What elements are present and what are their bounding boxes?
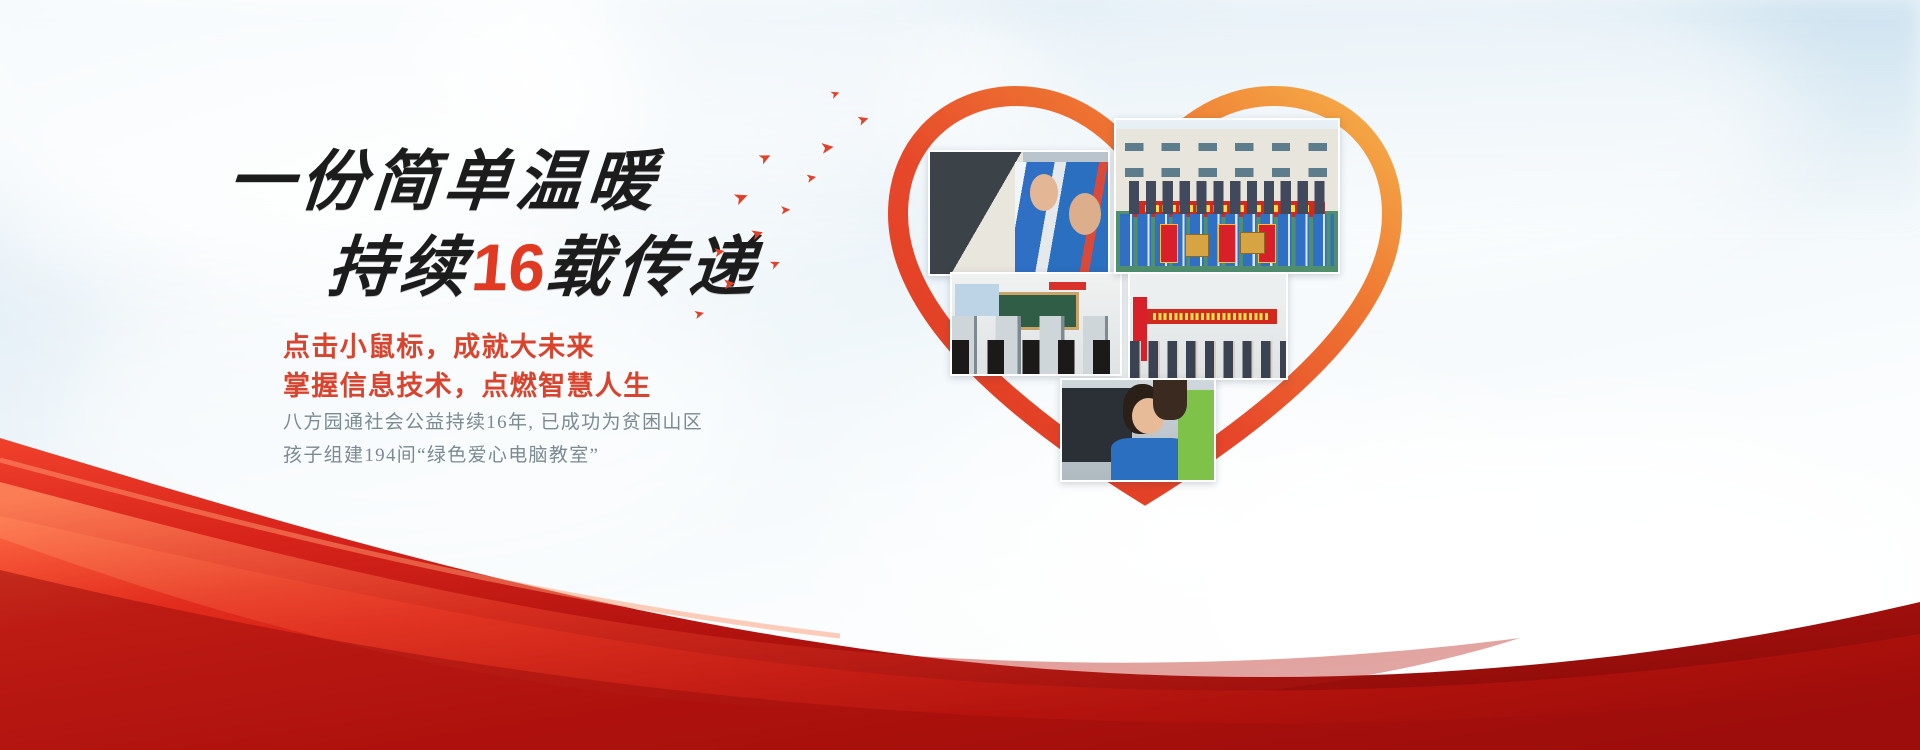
headline-line-2-prefix: 持续 bbox=[325, 232, 475, 305]
photo-content bbox=[1116, 120, 1338, 272]
subtitle-line-2: 掌握信息技术，点燃智慧人生 bbox=[283, 367, 652, 406]
bird-icon: ➤ bbox=[768, 256, 783, 272]
screen-backs bbox=[930, 152, 1023, 274]
window bbox=[955, 284, 999, 316]
bird-icon: ➤ bbox=[805, 171, 818, 186]
red-silk-ribbon bbox=[0, 420, 1920, 750]
student-silhouettes bbox=[952, 340, 1120, 374]
student-head bbox=[1153, 380, 1186, 420]
ceiling bbox=[1130, 274, 1286, 305]
charity-banner: 一份简单温暖 持续16载传递 点击小鼠标，成就大未来 掌握信息技术，点燃智慧人生… bbox=[0, 0, 1920, 750]
headline-year-number: 16 bbox=[469, 230, 549, 304]
bird-icon: ➤ bbox=[712, 244, 726, 260]
photo-computer-classroom bbox=[950, 272, 1122, 376]
ceremony-banner bbox=[1146, 309, 1277, 324]
photo-content bbox=[930, 152, 1108, 274]
bird-icon: ➤ bbox=[756, 149, 775, 169]
bird-icon: ➤ bbox=[749, 225, 766, 244]
student-head bbox=[1030, 174, 1058, 211]
photo-content bbox=[1130, 274, 1286, 378]
photo-content bbox=[952, 274, 1120, 374]
bird-icon: ➤ bbox=[731, 187, 752, 210]
photo-indoor-ceremony bbox=[1128, 272, 1288, 380]
attendees-crowd bbox=[1130, 341, 1286, 378]
student-head bbox=[1069, 193, 1101, 234]
pennant-flag bbox=[1160, 224, 1178, 262]
bird-icon: ➤ bbox=[780, 204, 792, 218]
subtitle-line-1: 点击小鼠标，成就大未来 bbox=[283, 328, 652, 367]
award-plaque bbox=[1185, 234, 1209, 257]
award-plaque bbox=[1240, 232, 1264, 254]
photo-school-group-donation bbox=[1114, 118, 1340, 274]
bird-icon: ➤ bbox=[819, 139, 835, 158]
photo-kids-at-computers bbox=[928, 150, 1110, 276]
adults-row bbox=[1129, 181, 1324, 214]
wall-banner bbox=[1049, 282, 1086, 290]
pennant-flag bbox=[1218, 224, 1236, 262]
subtitle-block: 点击小鼠标，成就大未来 掌握信息技术，点燃智慧人生 bbox=[283, 328, 652, 406]
bird-icon: ➤ bbox=[722, 276, 737, 293]
